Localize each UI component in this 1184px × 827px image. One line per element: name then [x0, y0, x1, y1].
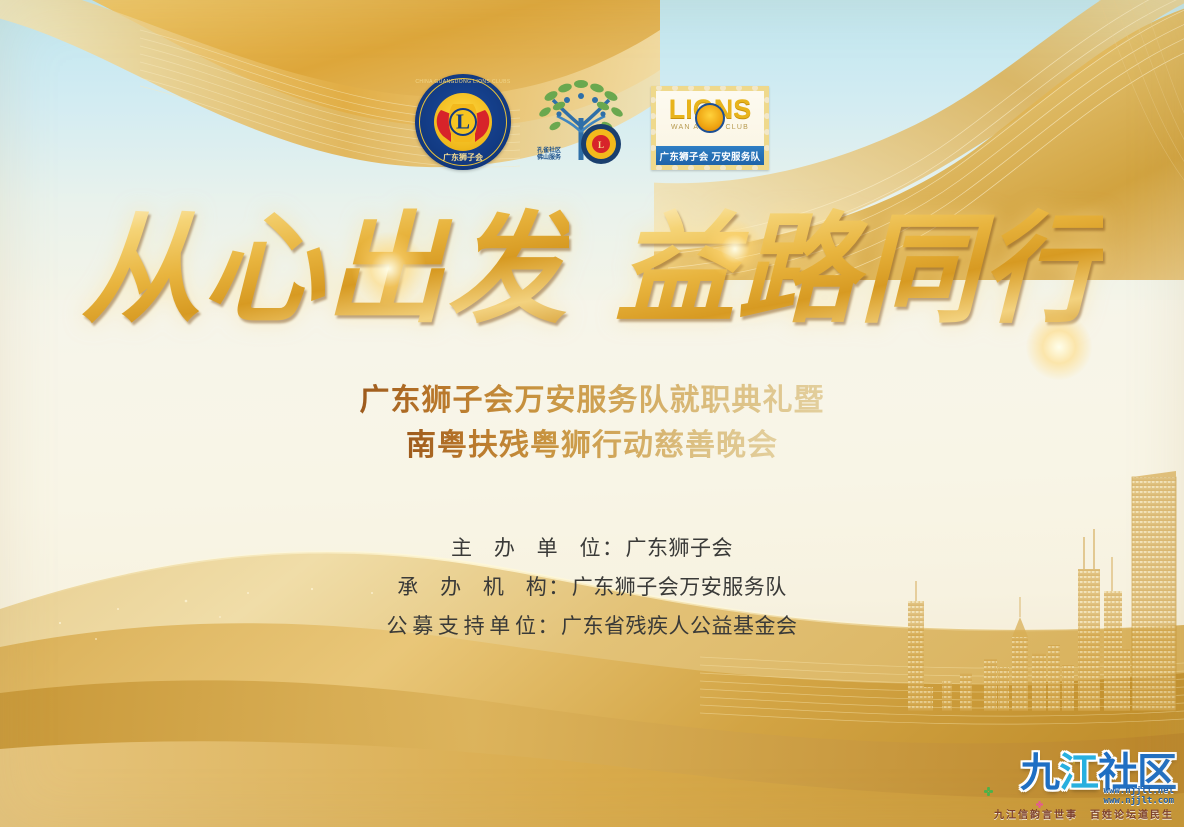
- watermark-url-2: www.njjlt.com: [1104, 796, 1174, 806]
- subtitle-block: 广东狮子会万安服务队就职典礼暨 南粤扶残粤狮行动慈善晚会: [0, 378, 1184, 468]
- credit-value: 广东省残疾人公益基金会: [561, 610, 798, 640]
- event-poster: CHINA GUANGDONG LIONS CLUBS L 广东狮子会: [0, 0, 1184, 827]
- credits-block: 主办单位 ： 广东狮子会 承办机构 ： 广东狮子会万安服务队 公募支持单位 ： …: [0, 532, 1184, 640]
- credit-value: 广东狮子会: [626, 532, 734, 562]
- svg-text:L: L: [598, 140, 604, 150]
- emblem-ring-text: CHINA GUANGDONG LIONS CLUBS: [415, 79, 511, 85]
- lion-head-icon: [695, 103, 725, 133]
- subtitle-line-1: 广东狮子会万安服务队就职典礼暨: [360, 378, 825, 423]
- credit-row: 公募支持单位 ： 广东省残疾人公益基金会: [387, 610, 798, 640]
- watermark-tagline: 九江信韵言世事 百姓论坛道民生: [994, 806, 1174, 821]
- credit-colon: ：: [602, 532, 624, 562]
- credit-label: 公募支持单位: [387, 610, 537, 640]
- credit-label: 承办机构: [397, 571, 547, 601]
- watermark-char-1: 九: [1020, 753, 1059, 793]
- headline-part-2: 益路同行: [615, 196, 1103, 346]
- credit-colon: ：: [548, 571, 570, 601]
- credit-label: 主办单位: [451, 532, 601, 562]
- site-watermark: 九 江 社 区 www.njjlt.net www.njjlt.com 九江信韵…: [978, 747, 1178, 823]
- stamp-border: LIONS WAN AN CLUB 广东狮子会 万安服务队: [651, 86, 769, 170]
- wanan-service-team-stamp: LIONS WAN AN CLUB 广东狮子会 万安服务队: [651, 86, 769, 170]
- credit-row: 承办机构 ： 广东狮子会万安服务队: [397, 571, 787, 601]
- headline: 从心出发益路同行: [0, 196, 1184, 346]
- credit-value: 广东狮子会万安服务队: [572, 571, 787, 601]
- community-label: 孔雀社区 佛山服务: [537, 148, 579, 162]
- watermark-char-2: 江: [1059, 753, 1098, 793]
- emblem-letter-l: L: [456, 110, 470, 135]
- subtitle-line-2: 南粤扶残粤狮行动慈善晚会: [406, 423, 778, 468]
- watermark-urls: www.njjlt.net www.njjlt.com: [1104, 786, 1174, 806]
- community-tree-service-emblem: L 孔雀社区 佛山服务: [535, 74, 627, 170]
- guangdong-lions-club-emblem: CHINA GUANGDONG LIONS CLUBS L 广东狮子会: [415, 74, 511, 170]
- organizer-logo-row: CHINA GUANGDONG LIONS CLUBS L 广东狮子会: [0, 74, 1184, 170]
- emblem-bottom-text: 广东狮子会: [415, 152, 511, 163]
- service-team-band: 广东狮子会 万安服务队: [656, 146, 764, 165]
- credit-colon: ：: [538, 610, 560, 640]
- flower-icon-green: [984, 787, 993, 796]
- watermark-url-1: www.njjlt.net: [1104, 786, 1174, 796]
- headline-part-1: 从心出发: [81, 196, 569, 346]
- credit-row: 主办单位 ： 广东狮子会: [451, 532, 733, 562]
